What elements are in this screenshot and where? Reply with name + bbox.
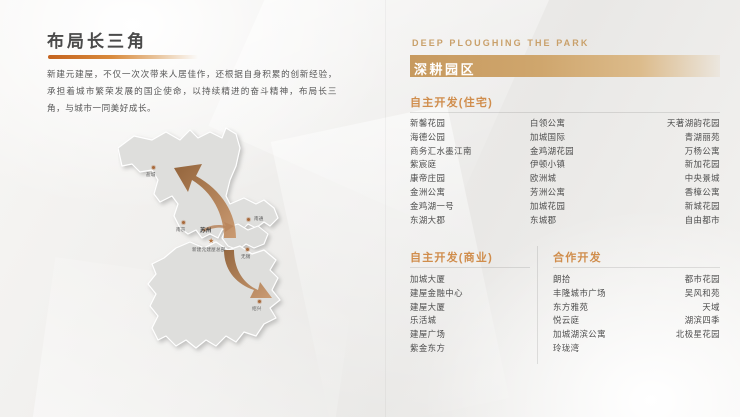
list-item: 建屋广场 bbox=[410, 328, 520, 342]
list-item: 香樟公寓 bbox=[630, 185, 720, 199]
list-item: 加城国际 bbox=[530, 130, 640, 144]
list-item: 紫金东方 bbox=[410, 341, 520, 355]
list-item: 东城郡 bbox=[530, 213, 640, 227]
list-item: 康帝庄园 bbox=[410, 172, 520, 186]
map-label-wuxi: 无锡 bbox=[241, 254, 251, 260]
section-title: 深耕园区 bbox=[414, 59, 476, 78]
map-label-nanjing: 南京 bbox=[176, 227, 186, 233]
list-item: 天著湖韵花园 bbox=[630, 116, 720, 130]
group-heading-cooperation: 合作开发 bbox=[553, 249, 602, 265]
residential-column-1: 新馨花园 海德公园 商务汇水墨江南 紫宸庭 康帝庄园 金洲公寓 金鸡湖一号 东湖… bbox=[410, 116, 520, 227]
list-item: 加城大厦 bbox=[410, 272, 520, 286]
list-item: 万杨公寓 bbox=[630, 144, 720, 158]
group-rule-commercial bbox=[410, 267, 530, 268]
commercial-column-1: 加城大厦 建屋金融中心 建屋大厦 乐活城 建屋广场 紫金东方 bbox=[410, 272, 520, 355]
group-rule-residential bbox=[410, 112, 720, 113]
list-item: 都市花园 bbox=[630, 272, 720, 286]
list-item: 湖滨四季 bbox=[630, 314, 720, 328]
page-title: 布局长三角 bbox=[47, 27, 147, 52]
list-item: 金鸡湖花园 bbox=[530, 144, 640, 158]
list-item: 海德公园 bbox=[410, 130, 520, 144]
residential-column-2: 白领公寓 加城国际 金鸡湖花园 伊顿小镇 欧洲城 芳洲公寓 加城花园 东城郡 bbox=[530, 116, 640, 227]
right-panel: DEEP PLOUGHING THE PARK 深耕园区 自主开发(住宅) 新馨… bbox=[385, 0, 740, 417]
list-item: 芳洲公寓 bbox=[530, 185, 640, 199]
list-item: 欧洲城 bbox=[530, 172, 640, 186]
list-item: 伊顿小镇 bbox=[530, 158, 640, 172]
map-svg bbox=[118, 118, 328, 366]
list-item: 新城花园 bbox=[630, 199, 720, 213]
list-item: 金洲公寓 bbox=[410, 185, 520, 199]
map-star-headquarters: ★ bbox=[208, 238, 214, 245]
group-heading-commercial: 自主开发(商业) bbox=[410, 249, 493, 265]
list-item: 青湖丽苑 bbox=[630, 130, 720, 144]
map-label-headquarters: 新建元建屋总部 bbox=[192, 247, 226, 253]
residential-column-3: 天著湖韵花园 青湖丽苑 万杨公寓 新加花园 中央景城 香樟公寓 新城花园 自由都… bbox=[630, 116, 720, 227]
list-item: 北极星花园 bbox=[630, 328, 720, 342]
map-label-yancheng: 盐城 bbox=[146, 172, 156, 178]
column-divider bbox=[537, 246, 538, 364]
yangtze-delta-map: 盐城 南京 苏州 ★ 新建元建屋总部 南通 无锡 绍兴 bbox=[118, 118, 328, 366]
list-item: 加城花园 bbox=[530, 199, 640, 213]
list-item: 中央景城 bbox=[630, 172, 720, 186]
group-heading-residential: 自主开发(住宅) bbox=[410, 94, 493, 110]
map-label-suzhou: 苏州 bbox=[200, 226, 212, 234]
list-item: 天域 bbox=[630, 300, 720, 314]
cooperation-column-2: 都市花园 吴风和苑 天域 湖滨四季 北极星花园 bbox=[630, 272, 720, 341]
list-item: 建屋金融中心 bbox=[410, 286, 520, 300]
map-label-nantong: 南通 bbox=[254, 216, 264, 222]
title-underline-rule bbox=[48, 55, 198, 59]
list-item: 乐活城 bbox=[410, 314, 520, 328]
map-label-shaoxing: 绍兴 bbox=[252, 306, 262, 312]
list-item: 吴风和苑 bbox=[630, 286, 720, 300]
list-item: 紫宸庭 bbox=[410, 158, 520, 172]
slide-canvas: 布局长三角 新建元建屋，不仅一次次带来人居佳作，还根据自身积累的创新经验，承担着… bbox=[0, 0, 740, 417]
list-item: 商务汇水墨江南 bbox=[410, 144, 520, 158]
list-item: 建屋大厦 bbox=[410, 300, 520, 314]
group-rule-cooperation bbox=[553, 267, 720, 268]
list-item: 自由都市 bbox=[630, 213, 720, 227]
left-panel: 布局长三角 新建元建屋，不仅一次次带来人居佳作，还根据自身积累的创新经验，承担着… bbox=[0, 0, 385, 417]
list-item: 东湖大郡 bbox=[410, 213, 520, 227]
section-eyebrow-en: DEEP PLOUGHING THE PARK bbox=[412, 38, 589, 48]
intro-paragraph: 新建元建屋，不仅一次次带来人居佳作，还根据自身积累的创新经验，承担着城市繁荣发展… bbox=[47, 66, 337, 118]
list-item: 新加花园 bbox=[630, 158, 720, 172]
list-item: 白领公寓 bbox=[530, 116, 640, 130]
list-item: 玲珑湾 bbox=[553, 341, 653, 355]
section-title-bar: 深耕园区 bbox=[410, 55, 720, 77]
list-item: 新馨花园 bbox=[410, 116, 520, 130]
list-item: 金鸡湖一号 bbox=[410, 199, 520, 213]
